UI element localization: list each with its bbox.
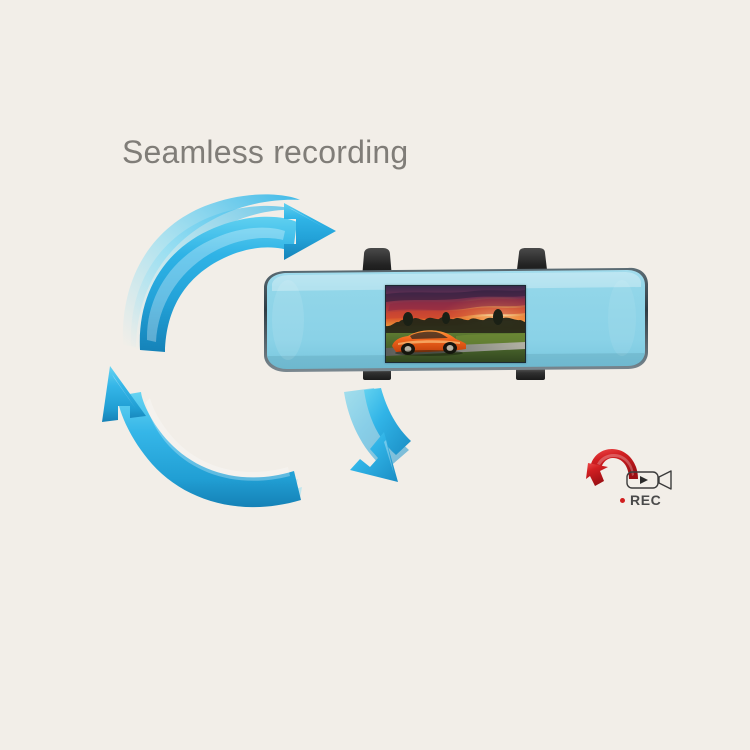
rec-text: REC	[630, 492, 661, 508]
play-triangle-icon	[640, 476, 648, 484]
rec-label: REC	[620, 493, 661, 507]
camcorder-icon	[626, 468, 674, 492]
page-title: Seamless recording	[122, 136, 408, 168]
rec-status-dot	[620, 498, 625, 503]
loop-recording-badge: REC	[586, 443, 686, 525]
rearview-mirror-dash-cam	[258, 248, 654, 388]
product-marketing-image: Seamless recording	[0, 0, 750, 750]
loop-arrow-descending	[344, 388, 411, 482]
screen-content-sunset-car	[386, 286, 525, 362]
lcd-preview-screen	[385, 285, 526, 363]
